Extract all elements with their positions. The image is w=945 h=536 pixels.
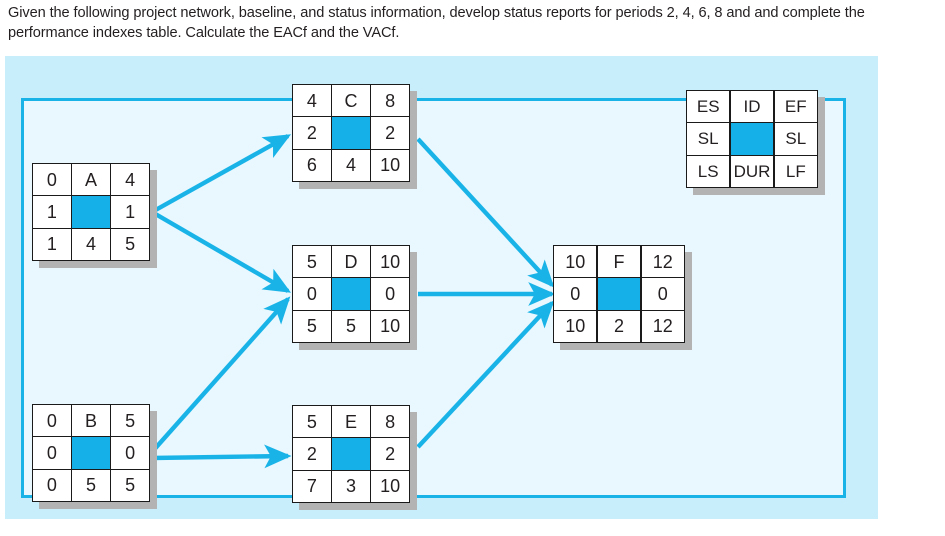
legend-es: ES: [687, 91, 729, 122]
legend-ef: EF: [775, 91, 817, 122]
legend-sl-right: SL: [775, 123, 817, 154]
node-a-lf: 5: [111, 229, 149, 260]
node-grid: 10 F 12 0 0 10 2 12: [553, 245, 685, 343]
node-c-sl-left: 2: [293, 117, 331, 148]
prompt-text: Given the following project network, bas…: [8, 4, 938, 44]
network-node-c[interactable]: 4 C 8 2 2 6 4 10: [292, 84, 410, 182]
node-f-dur: 2: [598, 311, 640, 342]
node-c-center: [332, 117, 370, 148]
legend-node: ES ID EF SL SL LS DUR LF: [686, 90, 818, 188]
node-b-lf: 5: [111, 470, 149, 501]
node-a-center: [72, 196, 110, 227]
node-a-sl-left: 1: [33, 196, 71, 227]
node-a-ls: 1: [33, 229, 71, 260]
node-b-es: 0: [33, 405, 71, 436]
node-grid: ES ID EF SL SL LS DUR LF: [686, 90, 818, 188]
node-d-es: 5: [293, 246, 331, 277]
node-d-dur: 5: [332, 311, 370, 342]
node-e-id: E: [332, 406, 370, 437]
node-e-lf: 10: [371, 471, 409, 502]
node-c-id: C: [332, 85, 370, 116]
node-b-dur: 5: [72, 470, 110, 501]
node-f-ls: 10: [554, 311, 596, 342]
node-e-ls: 7: [293, 471, 331, 502]
legend-lf: LF: [775, 156, 817, 187]
node-c-sl-right: 2: [371, 117, 409, 148]
node-b-sl-right: 0: [111, 437, 149, 468]
node-e-sl-left: 2: [293, 438, 331, 469]
node-d-sl-right: 0: [371, 278, 409, 309]
legend-sl-left: SL: [687, 123, 729, 154]
node-f-ef: 12: [642, 246, 684, 277]
node-grid: 5 E 8 2 2 7 3 10: [292, 405, 410, 503]
node-c-es: 4: [293, 85, 331, 116]
node-e-center: [332, 438, 370, 469]
node-f-sl-left: 0: [554, 278, 596, 309]
node-a-id: A: [72, 164, 110, 195]
node-grid: 0 B 5 0 0 0 5 5: [32, 404, 150, 502]
node-a-dur: 4: [72, 229, 110, 260]
node-c-ef: 8: [371, 85, 409, 116]
network-node-d[interactable]: 5 D 10 0 0 5 5 10: [292, 245, 410, 343]
node-f-lf: 12: [642, 311, 684, 342]
node-e-dur: 3: [332, 471, 370, 502]
network-node-e[interactable]: 5 E 8 2 2 7 3 10: [292, 405, 410, 503]
node-a-ef: 4: [111, 164, 149, 195]
legend-dur: DUR: [731, 156, 773, 187]
node-d-center: [332, 278, 370, 309]
node-b-sl-left: 0: [33, 437, 71, 468]
node-c-lf: 10: [371, 150, 409, 181]
network-node-a[interactable]: 0 A 4 1 1 1 4 5: [32, 163, 150, 261]
node-d-id: D: [332, 246, 370, 277]
node-grid: 5 D 10 0 0 5 5 10: [292, 245, 410, 343]
node-d-sl-left: 0: [293, 278, 331, 309]
legend-id: ID: [731, 91, 773, 122]
node-a-sl-right: 1: [111, 196, 149, 227]
node-c-dur: 4: [332, 150, 370, 181]
node-f-id: F: [598, 246, 640, 277]
node-grid: 4 C 8 2 2 6 4 10: [292, 84, 410, 182]
node-e-es: 5: [293, 406, 331, 437]
node-e-ef: 8: [371, 406, 409, 437]
node-e-sl-right: 2: [371, 438, 409, 469]
node-b-ls: 0: [33, 470, 71, 501]
node-f-center: [598, 278, 640, 309]
node-f-sl-right: 0: [642, 278, 684, 309]
legend-center: [731, 123, 773, 154]
node-b-center: [72, 437, 110, 468]
node-grid: 0 A 4 1 1 1 4 5: [32, 163, 150, 261]
node-b-id: B: [72, 405, 110, 436]
node-d-lf: 10: [371, 311, 409, 342]
network-node-b[interactable]: 0 B 5 0 0 0 5 5: [32, 404, 150, 502]
network-node-f[interactable]: 10 F 12 0 0 10 2 12: [553, 245, 685, 343]
node-b-ef: 5: [111, 405, 149, 436]
legend-ls: LS: [687, 156, 729, 187]
node-a-es: 0: [33, 164, 71, 195]
node-d-ef: 10: [371, 246, 409, 277]
node-d-ls: 5: [293, 311, 331, 342]
node-f-es: 10: [554, 246, 596, 277]
node-c-ls: 6: [293, 150, 331, 181]
